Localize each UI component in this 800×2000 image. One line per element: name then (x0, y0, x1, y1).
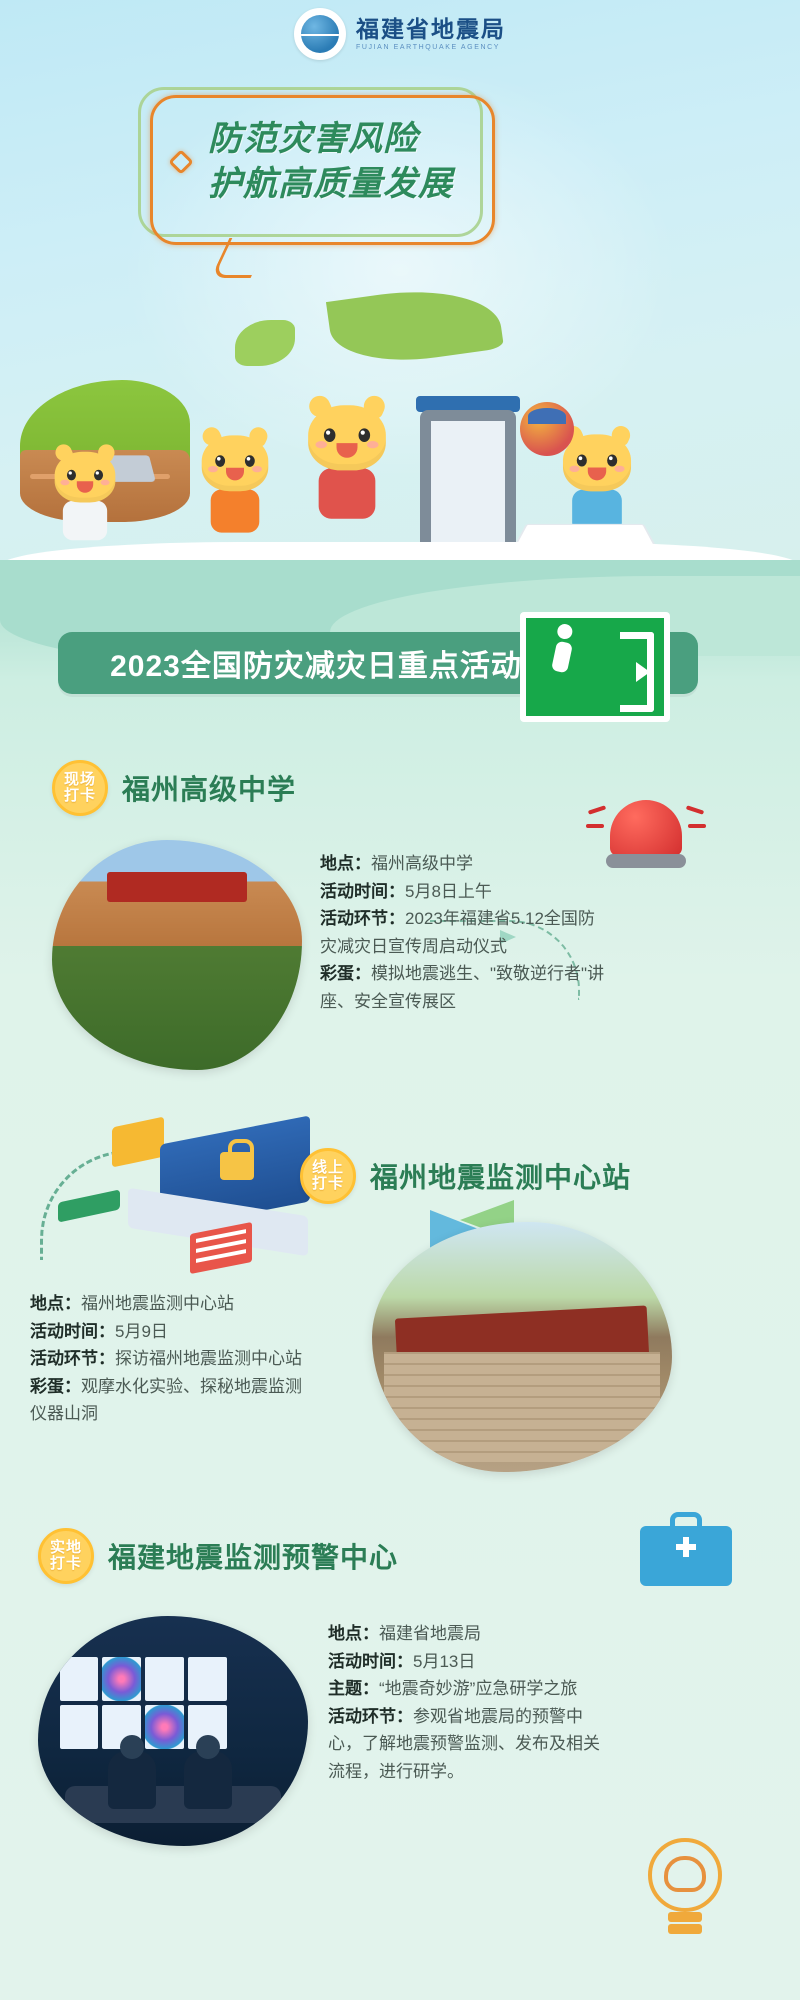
detail-label: 活动环节： (320, 909, 405, 928)
mascot-cheek-right (252, 466, 262, 472)
detail-label: 彩蛋： (320, 964, 371, 983)
section-1-badge: 现场 打卡 (52, 760, 108, 816)
section-3-photo (38, 1616, 308, 1846)
detail-row: 彩蛋：观摩水化实验、探秘地震监测仪器山洞 (30, 1373, 310, 1428)
mascot-cheek-left (60, 480, 69, 486)
detail-value: 5月8日上午 (405, 882, 492, 901)
bulb-base (668, 1912, 702, 1922)
detail-row: 主题：“地震奇妙游”应急研学之旅 (328, 1675, 608, 1703)
section-3-details: 地点：福建省地震局 活动时间：5月13日 主题：“地震奇妙游”应急研学之旅 活动… (328, 1620, 608, 1785)
hero-title-line1: 防范灾害风险 (208, 117, 478, 162)
medical-cross-icon (676, 1544, 696, 1550)
logo-seismic-wave-icon (301, 34, 339, 36)
section-2-title: 福州地震监测中心站 (370, 1156, 631, 1196)
detail-row: 活动环节：2023年福建省5.12全国防灾减灾日宣传周启动仪式 (320, 905, 610, 960)
logo-globe-icon (301, 15, 339, 53)
detail-value: 5月13日 (413, 1652, 475, 1671)
detail-value: “地震奇妙游”应急研学之旅 (379, 1679, 577, 1698)
mascot-mouth (226, 468, 244, 481)
detail-label: 地点： (30, 1294, 81, 1313)
mascot-mouth (337, 443, 358, 458)
mascot-eye-right (94, 470, 103, 481)
mascot-body (211, 489, 260, 532)
detail-label: 活动时间： (320, 882, 405, 901)
detail-value: 福建省地震局 (379, 1624, 481, 1643)
detail-value: 福州高级中学 (371, 854, 473, 873)
mascot-guide (563, 434, 631, 533)
hero-title-line2: 护航高质量发展 (208, 162, 478, 207)
mascot-cheek-left (208, 466, 218, 472)
mascot-cheek-left (316, 441, 328, 448)
mascot-head (202, 435, 269, 491)
mascot-eye-left (67, 470, 76, 481)
section-3-badge-line1: 实地 (50, 1540, 82, 1556)
fjea-logo-icon (294, 8, 346, 60)
detail-row: 活动环节：探访福州地震监测中心站 (30, 1345, 310, 1373)
earth-core-model-icon (520, 402, 574, 456)
detail-label: 活动环节： (328, 1707, 413, 1726)
detail-value: 5月9日 (115, 1322, 168, 1341)
mascot-head (563, 434, 631, 491)
scanner-frame (420, 410, 516, 560)
section-1-details: 地点：福州高级中学 活动时间：5月8日上午 活动环节：2023年福建省5.12全… (320, 850, 610, 1015)
mascot-rescuer (202, 435, 269, 532)
section-2: 线上 打卡 福州地震监测中心站 (0, 1148, 800, 1204)
scanner-gate-illustration (420, 410, 516, 560)
section-2-badge: 线上 打卡 (300, 1148, 356, 1204)
detail-label: 活动环节： (30, 1349, 115, 1368)
monitor-tile (102, 1657, 141, 1701)
section-2-header: 线上 打卡 福州地震监测中心站 (300, 1148, 800, 1204)
mascot-eye-left (215, 455, 225, 467)
mascot-cheek-right (614, 466, 624, 472)
mascot-scientist (55, 452, 116, 541)
section-3-title: 福建地震监测预警中心 (108, 1536, 398, 1576)
stone-wall (384, 1352, 660, 1462)
section-1-badge-line2: 打卡 (64, 788, 96, 804)
detail-value: 探访福州地震监测中心站 (115, 1349, 302, 1368)
running-person-icon (551, 641, 573, 674)
detail-label: 主题： (328, 1679, 379, 1698)
detail-row: 彩蛋：模拟地震逃生、"致敬逆行者"讲座、安全宣传展区 (320, 960, 610, 1015)
mascot-eye-right (359, 428, 371, 442)
monitor-tile (145, 1657, 184, 1701)
leaf-small-icon (235, 320, 295, 366)
leaf-icon (326, 279, 504, 372)
mascot-body (319, 468, 376, 518)
mascot-eye-right (607, 455, 617, 467)
hero-speech-bubble: 防范灾害风险 护航高质量发展 (150, 95, 495, 245)
mascot-cheek-right (101, 480, 110, 486)
alarm-base (606, 854, 686, 868)
poster-root: 福建省地震局 FUJIAN EARTHQUAKE AGENCY 防范灾害风险 护… (0, 0, 800, 2000)
detail-row: 地点：福州地震监测中心站 (30, 1290, 310, 1318)
mascot-mouth (588, 467, 606, 480)
lightbulb-brain-icon (630, 1830, 740, 1950)
mascot-body (63, 501, 107, 540)
section-1-title: 福州高级中学 (122, 768, 296, 808)
monitor-tile (60, 1657, 99, 1701)
mascot-eye-left (324, 428, 336, 442)
mascot-cheek-right (367, 441, 379, 448)
detail-row: 活动环节：参观省地震局的预警中心，了解地震预警监测、发布及相关流程，进行研学。 (328, 1703, 608, 1786)
section-1-badge-line1: 现场 (64, 772, 96, 788)
section-1-header: 现场 打卡 福州高级中学 (52, 760, 800, 816)
detail-label: 活动时间： (328, 1652, 413, 1671)
detail-row: 活动时间：5月8日上午 (320, 878, 610, 906)
mascot-eye-right (245, 455, 255, 467)
org-name-cn: 福建省地震局 (356, 17, 506, 42)
mascot-mouth (77, 481, 93, 492)
org-name-block: 福建省地震局 FUJIAN EARTHQUAKE AGENCY (356, 17, 506, 51)
mascot-illustration-band (0, 290, 800, 590)
monitor-tile (145, 1705, 184, 1749)
alarm-ray (688, 824, 706, 828)
operator-person (184, 1751, 232, 1809)
emergency-exit-sign-icon (520, 612, 670, 722)
section-3-badge-line2: 打卡 (50, 1556, 82, 1572)
detail-label: 地点： (328, 1624, 379, 1643)
bulb-swirl (664, 1856, 706, 1892)
detail-row: 活动时间：5月9日 (30, 1318, 310, 1346)
section-1: 现场 打卡 福州高级中学 (0, 760, 800, 816)
detail-value: 福州地震监测中心站 (81, 1294, 234, 1313)
monitor-tile (60, 1705, 99, 1749)
detail-label: 地点： (320, 854, 371, 873)
mascot-head (55, 452, 116, 503)
detail-row: 活动时间：5月13日 (328, 1648, 608, 1676)
mascot-head (308, 405, 386, 470)
section-2-badge-line1: 线上 (312, 1160, 344, 1176)
section-2-details: 地点：福州地震监测中心站 活动时间：5月9日 活动环节：探访福州地震监测中心站 … (30, 1290, 310, 1428)
section-2-photo (372, 1222, 672, 1472)
operator-person (108, 1751, 156, 1809)
detail-label: 活动时间： (30, 1322, 115, 1341)
section-3-badge: 实地 打卡 (38, 1528, 94, 1584)
org-name-en: FUJIAN EARTHQUAKE AGENCY (356, 44, 506, 51)
alarm-ray (586, 824, 604, 828)
detail-row: 地点：福州高级中学 (320, 850, 610, 878)
mascot-eye-left (577, 455, 587, 467)
control-desk (65, 1786, 281, 1823)
org-logo-row: 福建省地震局 FUJIAN EARTHQUAKE AGENCY (0, 8, 800, 60)
mascot-cheek-left (569, 466, 579, 472)
first-aid-kit-icon (640, 1510, 732, 1588)
detail-row: 地点：福建省地震局 (328, 1620, 608, 1648)
mascot-runner (308, 405, 386, 518)
monitor-tile (188, 1657, 227, 1701)
detail-label: 彩蛋： (30, 1377, 81, 1396)
section-2-badge-line2: 打卡 (312, 1176, 344, 1192)
school-name-sign (107, 872, 247, 902)
exit-arrow-icon (636, 662, 650, 682)
hero-title: 防范灾害风险 护航高质量发展 (208, 117, 478, 207)
